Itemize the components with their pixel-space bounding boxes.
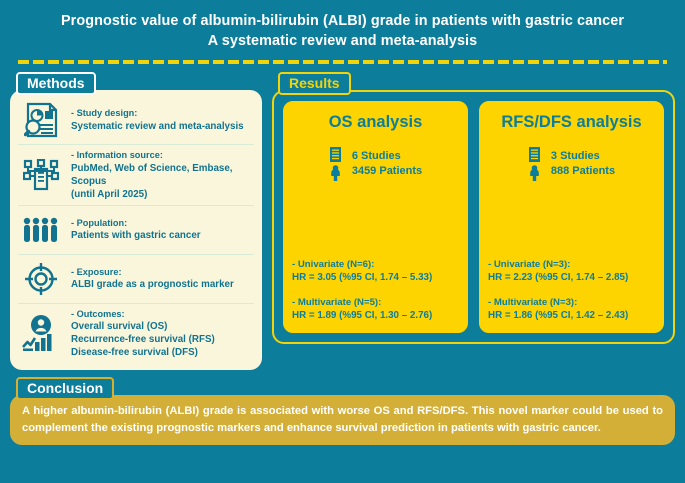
methods-item-text: - Study design: Systematic review and me…: [71, 107, 244, 133]
results-panel-rfs-dfs: RFS/DFS analysis: [477, 99, 666, 335]
patients-person-icon: [329, 165, 342, 182]
conclusion-box: A higher albumin-bilirubin (ALBI) grade …: [10, 395, 675, 445]
stat-multivariate: - Multivariate (N=3): HR = 1.86 (%95 CI,…: [488, 296, 655, 322]
methods-item-value-2: Recurrence-free survival (RFS): [71, 333, 215, 346]
methods-item-label: - Information source:: [71, 149, 254, 162]
methods-item-value: ALBI grade as a prognostic marker: [71, 278, 234, 291]
patients-count: 3459 Patients: [352, 164, 422, 179]
results-panel-stats: - Univariate (N=3): HR = 2.23 (%95 CI, 1…: [488, 258, 655, 324]
methods-item-population: - Population: Patients with gastric canc…: [18, 206, 254, 255]
section-tab-conclusion: Conclusion: [16, 377, 114, 400]
results-panel-os: OS analysis: [281, 99, 470, 335]
database-network-icon: [18, 159, 64, 191]
methods-item-exposure: - Exposure: ALBI grade as a prognostic m…: [18, 255, 254, 304]
stat-label: - Univariate (N=3):: [488, 258, 655, 271]
patients-person-icon: [528, 165, 541, 182]
methods-item-label: - Population:: [71, 217, 201, 230]
results-column: Results OS analysis: [272, 72, 675, 344]
results-panel-title: OS analysis: [292, 113, 459, 132]
stat-value: HR = 2.23 (%95 CI, 1.74 – 2.85): [488, 271, 655, 284]
conclusion-text: A higher albumin-bilirubin (ALBI) grade …: [22, 403, 663, 436]
count-icons: [329, 146, 342, 182]
section-tab-methods: Methods: [16, 72, 96, 95]
stat-value: HR = 3.05 (%95 CI, 1.74 – 5.33): [292, 271, 459, 284]
methods-item-value: Overall survival (OS): [71, 320, 215, 333]
stat-label: - Univariate (N=6):: [292, 258, 459, 271]
count-labels: 6 Studies 3459 Patients: [352, 149, 422, 179]
results-panel-counts: 3 Studies 888 Patients: [488, 146, 655, 182]
stat-multivariate: - Multivariate (N=5): HR = 1.89 (%95 CI,…: [292, 296, 459, 322]
stat-univariate: - Univariate (N=3): HR = 2.23 (%95 CI, 1…: [488, 258, 655, 284]
methods-item-outcomes: - Outcomes: Overall survival (OS) Recurr…: [18, 304, 254, 364]
studies-count: 3 Studies: [551, 149, 615, 164]
studies-count: 6 Studies: [352, 149, 422, 164]
methods-item-study-design: - Study design: Systematic review and me…: [18, 96, 254, 145]
methods-item-text: - Population: Patients with gastric canc…: [71, 217, 201, 243]
results-panel-counts: 6 Studies 3459 Patients: [292, 146, 459, 182]
conclusion-section: Conclusion A higher albumin-bilirubin (A…: [0, 370, 685, 445]
title-block: Prognostic value of albumin-bilirubin (A…: [0, 0, 685, 51]
stat-univariate: - Univariate (N=6): HR = 3.05 (%95 CI, 1…: [292, 258, 459, 284]
methods-item-value: Patients with gastric cancer: [71, 229, 201, 242]
methods-item-label: - Study design:: [71, 107, 244, 120]
methods-item-value: PubMed, Web of Science, Embase, Scopus: [71, 162, 254, 188]
page-title-line-1: Prognostic value of albumin-bilirubin (A…: [16, 11, 669, 31]
methods-item-text: - Information source: PubMed, Web of Sci…: [71, 149, 254, 201]
count-icons: [528, 146, 541, 182]
methods-column: Methods: [10, 72, 262, 370]
methods-item-information-source: - Information source: PubMed, Web of Sci…: [18, 145, 254, 206]
studies-document-icon: [528, 146, 541, 163]
patients-count: 888 Patients: [551, 164, 615, 179]
methods-item-text: - Exposure: ALBI grade as a prognostic m…: [71, 266, 234, 292]
results-panel-title: RFS/DFS analysis: [488, 113, 655, 132]
stat-value: HR = 1.89 (%95 CI, 1.30 – 2.76): [292, 309, 459, 322]
stat-label: - Multivariate (N=5):: [292, 296, 459, 309]
count-labels: 3 Studies 888 Patients: [551, 149, 615, 179]
person-barchart-icon: [18, 314, 64, 352]
methods-item-value-3: Disease-free survival (DFS): [71, 346, 215, 359]
results-panel-stats: - Univariate (N=6): HR = 3.05 (%95 CI, 1…: [292, 258, 459, 324]
people-group-icon: [18, 217, 64, 243]
results-outer-frame: OS analysis: [272, 90, 675, 344]
methods-item-value-2: (until April 2025): [71, 188, 254, 201]
stat-value: HR = 1.86 (%95 CI, 1.42 – 2.43): [488, 309, 655, 322]
section-tab-results: Results: [278, 72, 351, 95]
target-crosshair-icon: [18, 262, 64, 296]
document-search-icon: [18, 102, 64, 138]
methods-item-text: - Outcomes: Overall survival (OS) Recurr…: [71, 308, 215, 360]
studies-document-icon: [329, 146, 342, 163]
main-columns: Methods: [0, 64, 685, 370]
page-title-line-2: A systematic review and meta-analysis: [16, 31, 669, 51]
methods-item-value: Systematic review and meta-analysis: [71, 120, 244, 133]
methods-card: - Study design: Systematic review and me…: [10, 90, 262, 370]
methods-item-label: - Exposure:: [71, 266, 234, 279]
methods-item-label: - Outcomes:: [71, 308, 215, 321]
stat-label: - Multivariate (N=3):: [488, 296, 655, 309]
